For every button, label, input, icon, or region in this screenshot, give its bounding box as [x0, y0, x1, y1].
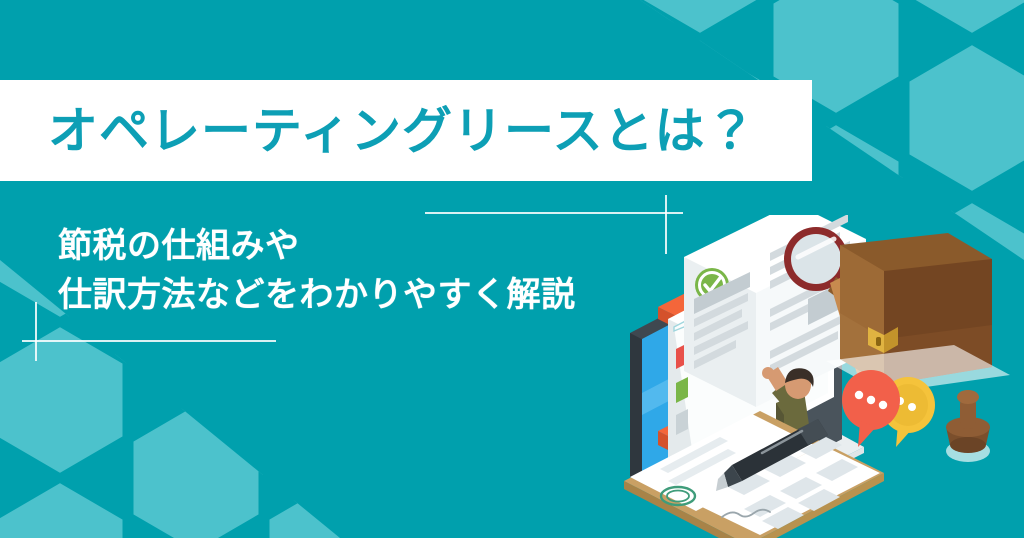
page-title: オペレーティングリースとは？	[48, 106, 757, 156]
subtitle-line-2: 仕訳方法などをわかりやすく解説	[58, 271, 576, 320]
speech-bubble-red-icon	[842, 370, 900, 447]
subtitle-line-1: 節税の仕組みや	[58, 222, 576, 271]
decor-rule-bottom-left-horizontal	[22, 340, 276, 342]
illustration-isometric-business-audit	[612, 215, 1024, 538]
briefcase-icon	[826, 233, 1010, 393]
decor-rule-top-right-horizontal	[425, 212, 683, 214]
rubber-stamp-icon	[946, 390, 990, 462]
banner-graphic: オペレーティングリースとは？ 節税の仕組みや 仕訳方法などをわかりやすく解説	[0, 0, 1024, 538]
title-plate: オペレーティングリースとは？	[0, 80, 812, 181]
decor-rule-bottom-left-vertical	[35, 302, 37, 361]
subtitle: 節税の仕組みや 仕訳方法などをわかりやすく解説	[58, 222, 576, 321]
